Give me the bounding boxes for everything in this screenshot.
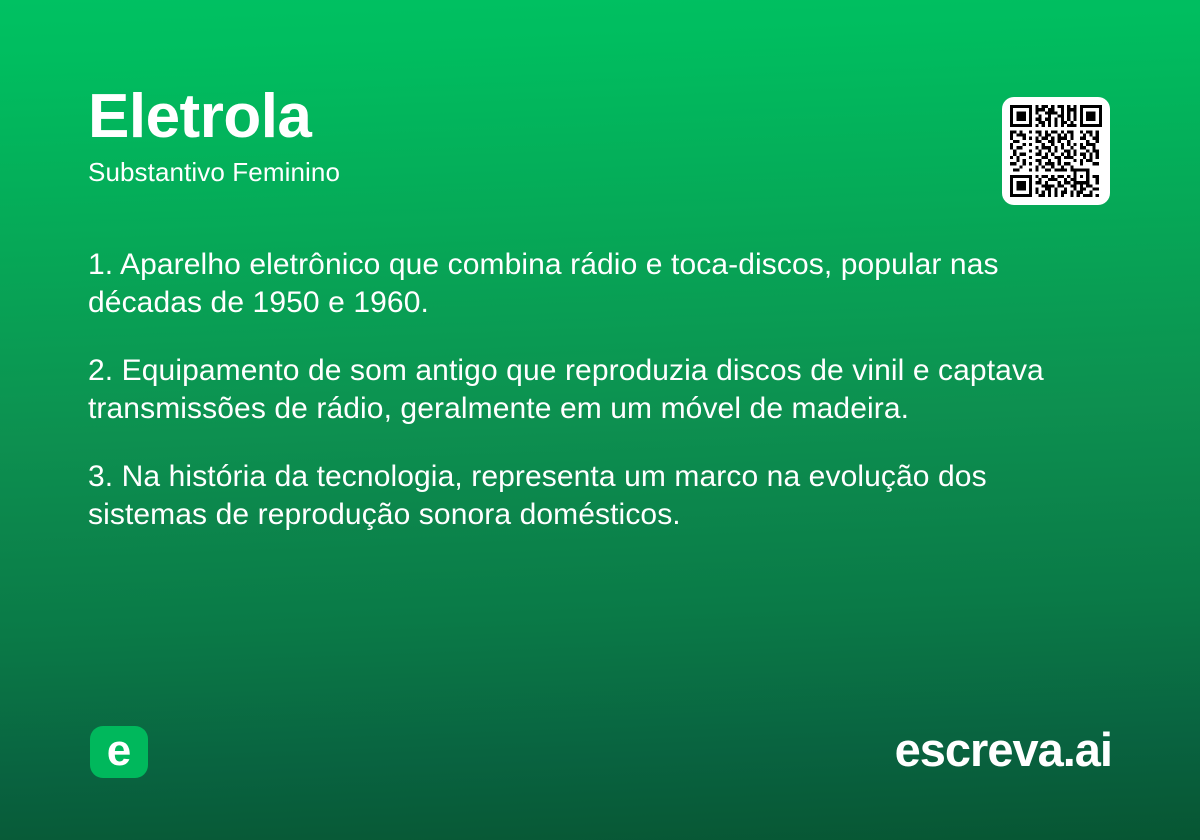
definition-item: 3. Na história da tecnologia, representa… — [88, 458, 1088, 534]
definition-item: 1. Aparelho eletrônico que combina rádio… — [88, 246, 1088, 322]
definition-list: 1. Aparelho eletrônico que combina rádio… — [88, 246, 1088, 534]
logo-letter: e — [107, 729, 131, 773]
definition-item: 2. Equipamento de som antigo que reprodu… — [88, 352, 1088, 428]
dictionary-card: Eletrola Substantivo Feminino — [0, 0, 1200, 840]
card-header: Eletrola Substantivo Feminino — [88, 84, 1112, 188]
qr-code[interactable] — [1002, 97, 1110, 205]
brand-wordmark[interactable]: escreva.ai — [895, 722, 1112, 778]
escreva-logo-icon[interactable]: e — [90, 726, 148, 778]
word-class-label: Substantivo Feminino — [88, 156, 1112, 188]
page-title: Eletrola — [88, 84, 1112, 150]
